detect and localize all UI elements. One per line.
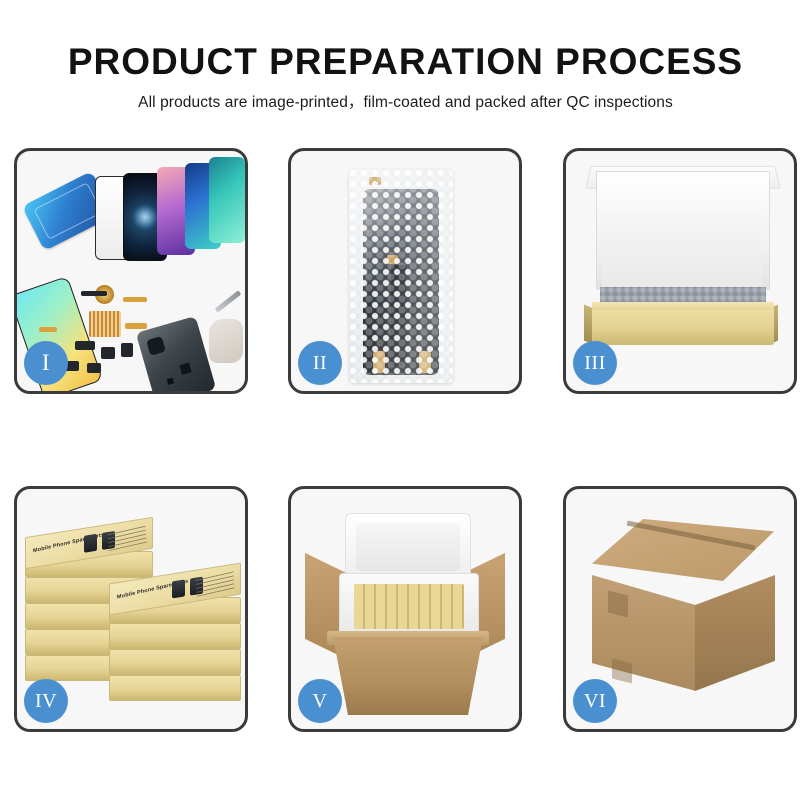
packed-gold-boxes [354, 584, 464, 629]
gold-box-layer [109, 623, 241, 649]
flex-cable-part-icon [125, 323, 147, 329]
step-badge-4: IV [24, 679, 68, 723]
page-title: PRODUCT PREPARATION PROCESS [0, 40, 811, 84]
product-preparation-infographic: PRODUCT PREPARATION PROCESS All products… [0, 0, 811, 811]
carton-body [333, 637, 483, 715]
box-screen-thumbnail [84, 534, 97, 553]
process-step-3: III [563, 148, 797, 394]
process-step-6: VI [563, 486, 797, 732]
hand-image [209, 319, 243, 363]
box-inner-surface [602, 211, 762, 289]
gold-box-layer [109, 649, 241, 675]
carton-tape-patch [612, 659, 632, 684]
process-step-1: I [14, 148, 248, 394]
carton-top-face [592, 519, 774, 581]
plastic-sheen-overlay [349, 169, 453, 383]
step-badge-2: II [298, 341, 342, 385]
box-screen-thumbnail [172, 579, 185, 598]
header: PRODUCT PREPARATION PROCESS All products… [0, 40, 811, 113]
gold-box-base [592, 309, 774, 345]
carton-tape-patch [608, 591, 628, 618]
small-chip-part-icon [75, 341, 95, 350]
gold-box-layer [109, 675, 241, 701]
foam-container [339, 573, 479, 639]
box-spec-lines [107, 524, 146, 551]
bubble-wrap-bag [349, 169, 453, 383]
page-subtitle: All products are image-printed，film-coat… [0, 93, 811, 113]
camera-module-part-icon [101, 347, 115, 359]
speaker-strip-part-icon [81, 291, 107, 296]
process-step-grid: I II [14, 148, 797, 736]
green-gradient-phone-image [209, 157, 245, 243]
phone-back-housing-image [136, 316, 217, 394]
gold-grid-part-icon [89, 311, 121, 337]
step-badge-3: III [573, 341, 617, 385]
flex-cable-part-icon [123, 297, 147, 302]
flex-cable-part-icon [39, 327, 57, 332]
process-step-4: Mobile Phone Spare Parts Mobile Phone Sp… [14, 486, 248, 732]
step-badge-5: V [298, 679, 342, 723]
process-step-5: V [288, 486, 522, 732]
foam-lid [345, 513, 471, 581]
box-spec-lines [195, 569, 234, 596]
tweezers-tool-icon [215, 290, 242, 312]
vibrator-part-icon [87, 363, 101, 373]
step-badge-6: VI [573, 679, 617, 723]
step-badge-1: I [24, 341, 68, 385]
carton-side-face [695, 575, 775, 691]
process-step-2: II [288, 148, 522, 394]
battery-connector-part-icon [121, 343, 133, 357]
